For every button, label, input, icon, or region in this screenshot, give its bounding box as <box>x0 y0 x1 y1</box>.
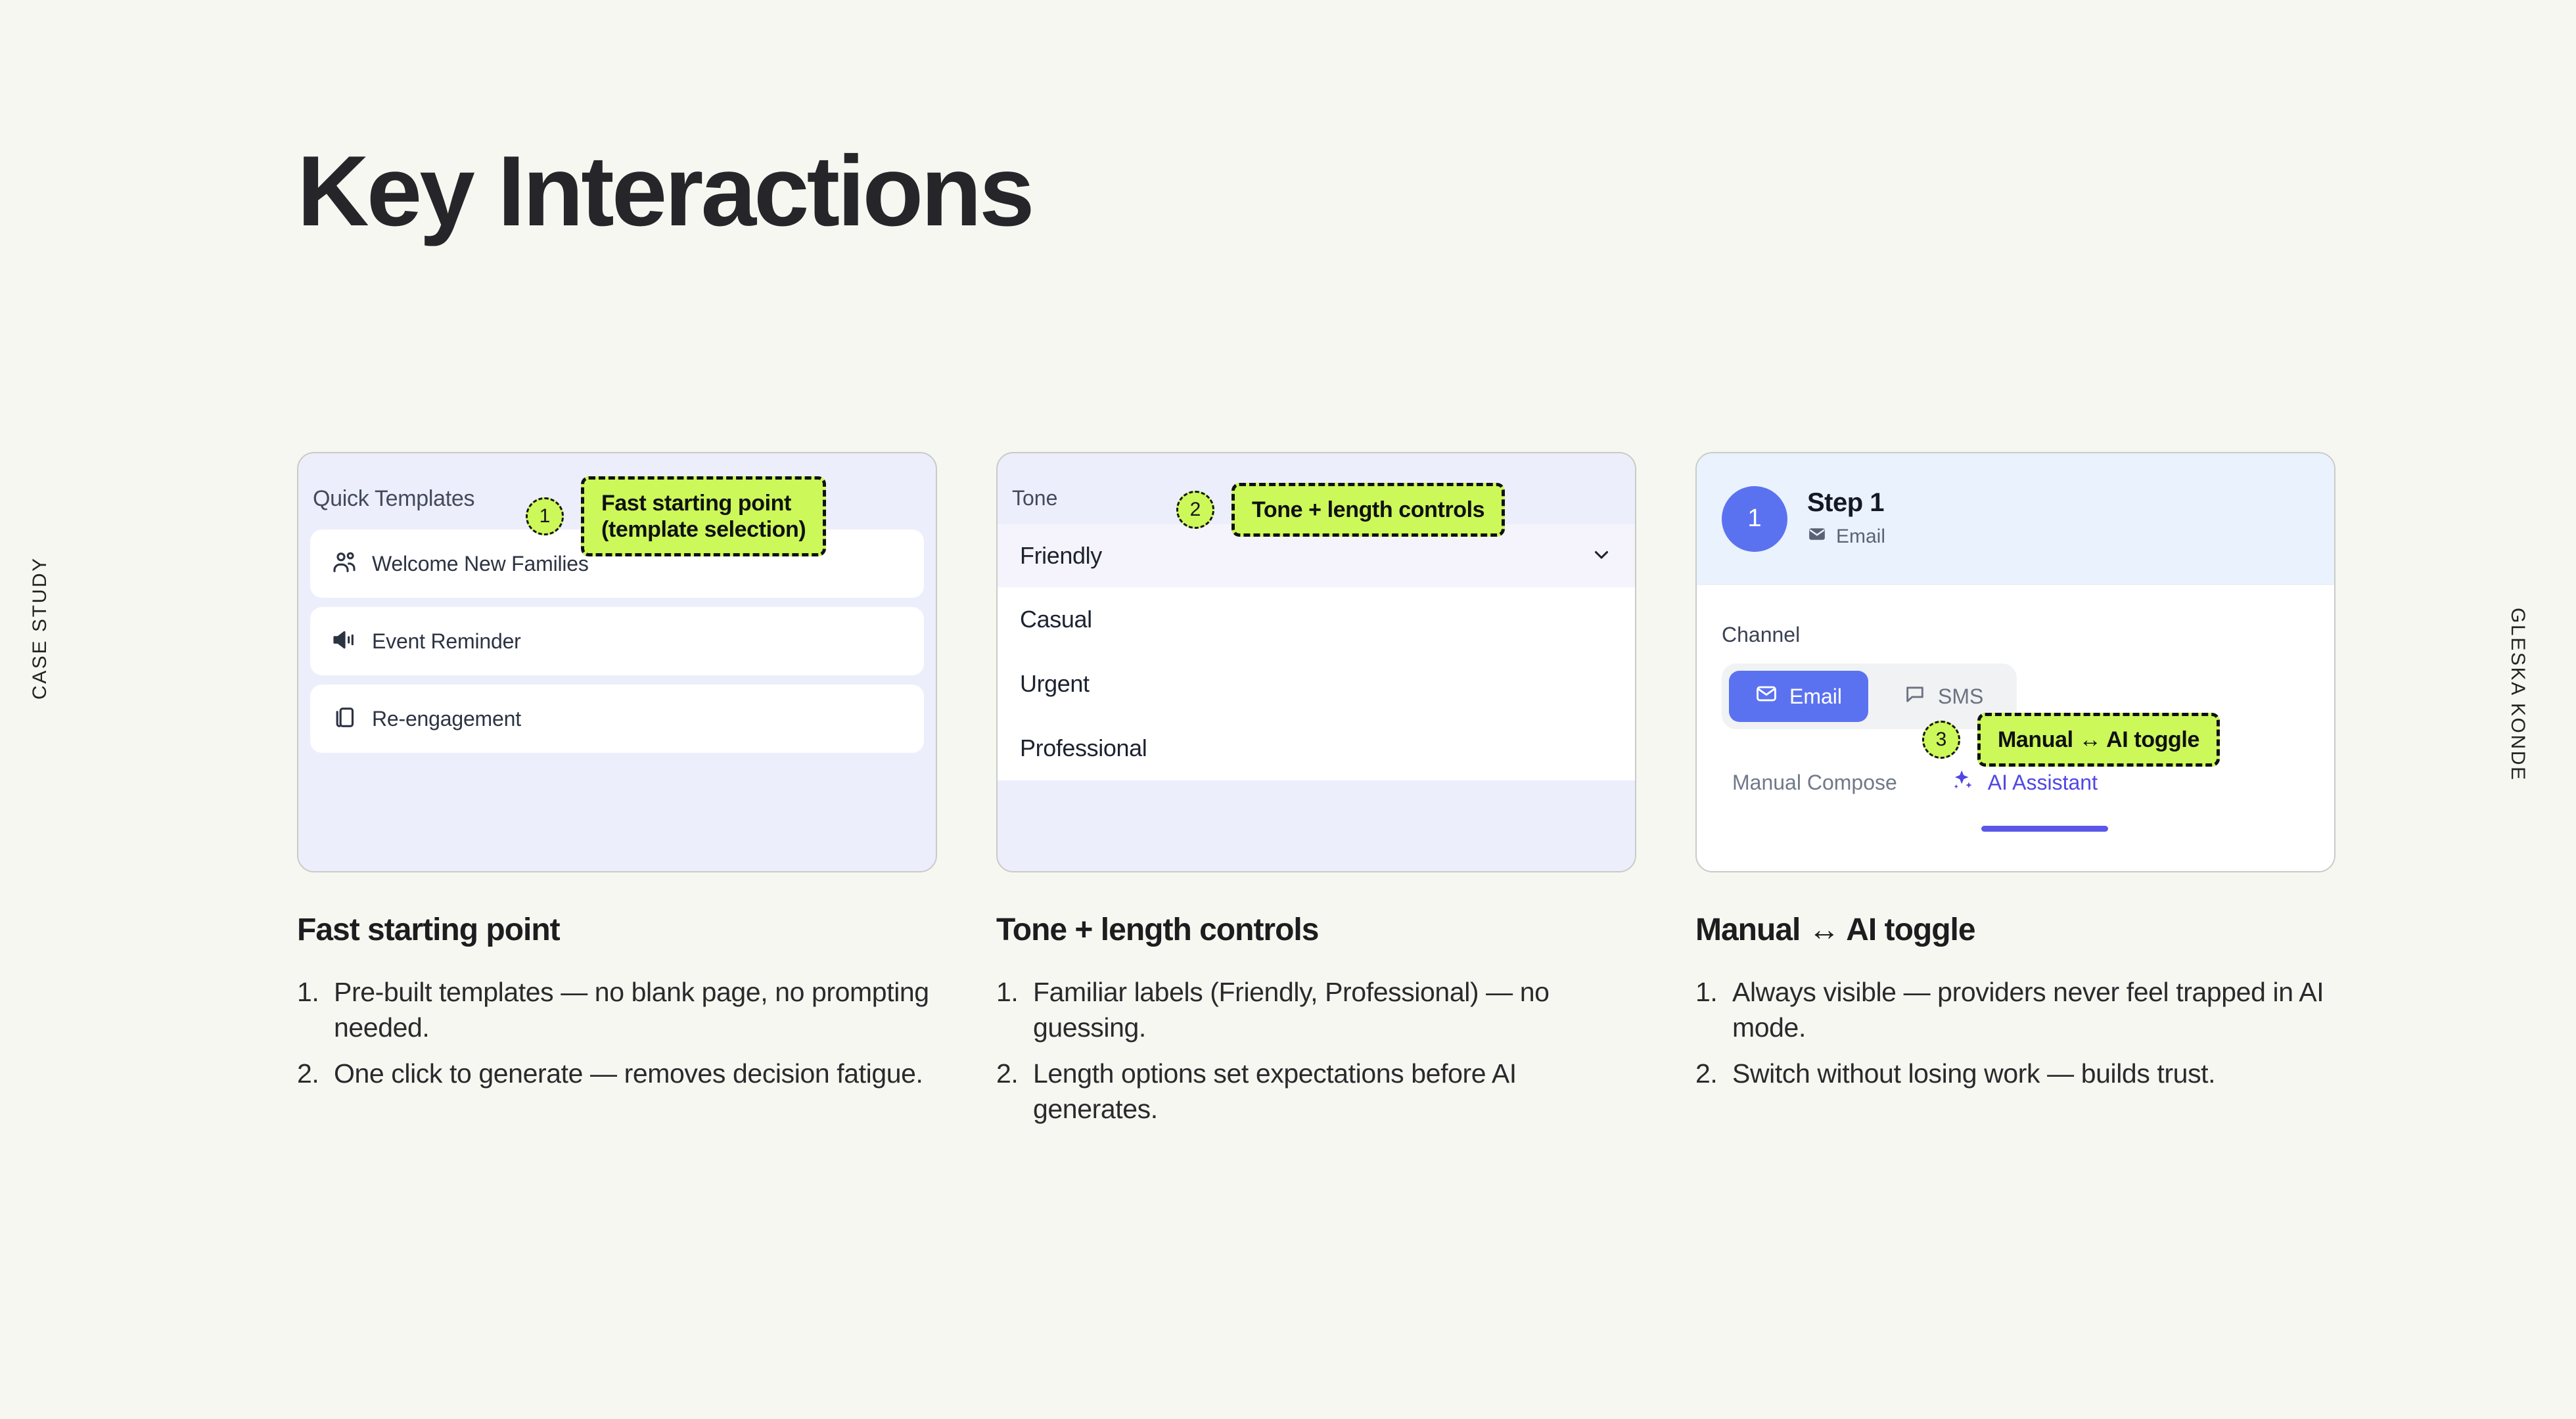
compose-mode-tabs: Manual Compose AI Assistant <box>1732 767 2098 812</box>
caption-block: Fast starting point 1. Pre-built templat… <box>297 912 937 1091</box>
option-label: Urgent <box>1020 670 1090 698</box>
list-item[interactable]: Event Reminder <box>310 607 924 675</box>
step-number-badge: 1 <box>1722 486 1787 552</box>
dropdown-option[interactable]: Professional <box>998 716 1635 780</box>
list-item: 1. Pre-built templates — no blank page, … <box>297 974 937 1045</box>
step-header: 1 Step 1 Email <box>1697 453 2334 585</box>
users-icon <box>331 549 357 579</box>
mock-step-composer: 1 Step 1 Email Channel <box>1695 452 2335 872</box>
template-list: Welcome New Families Event Reminder <box>310 529 924 762</box>
envelope-icon <box>1755 683 1778 710</box>
dropdown-option[interactable]: Urgent <box>998 652 1635 716</box>
step-channel-row: Email <box>1807 524 1885 549</box>
tab-label: AI Assistant <box>1988 771 2098 795</box>
slide-canvas: CASE STUDY GLESKA KONDE Key Interactions… <box>0 0 2576 1419</box>
copy-icon <box>331 704 357 734</box>
list-text: One click to generate — removes decision… <box>334 1056 937 1091</box>
caption-title: Tone + length controls <box>996 912 1636 948</box>
callout-text: Fast starting point (template selection) <box>581 476 826 556</box>
callout-text: Manual ↔ AI toggle <box>1977 713 2220 767</box>
list-text: Switch without losing work — builds trus… <box>1732 1056 2335 1091</box>
callout-badge-number: 1 <box>526 497 564 535</box>
list-item[interactable]: Re-engagement <box>310 685 924 753</box>
callout-2: 2 Tone + length controls <box>1176 483 1505 537</box>
tone-dropdown[interactable]: Friendly Casual Urgent Profession <box>998 524 1635 780</box>
list-item: 1. Familiar labels (Friendly, Profession… <box>996 974 1636 1045</box>
caption-title: Manual ↔ AI toggle <box>1695 912 2335 948</box>
caption-block: Manual ↔ AI toggle 1. Always visible — p… <box>1695 912 2335 1091</box>
list-item: 2. One click to generate — removes decis… <box>297 1056 937 1091</box>
list-number: 2. <box>1695 1056 1732 1091</box>
template-label: Event Reminder <box>372 629 521 654</box>
envelope-icon <box>1807 524 1827 549</box>
callout-1: 1 Fast starting point (template selectio… <box>526 476 826 556</box>
template-label: Re-engagement <box>372 707 521 731</box>
sparkle-icon <box>1950 767 1975 798</box>
column-manual-ai-toggle: 1 Step 1 Email Channel <box>1695 452 2335 1137</box>
caption-list: 1. Always visible — providers never feel… <box>1695 974 2335 1091</box>
channel-label: Channel <box>1722 623 1800 647</box>
list-number: 2. <box>297 1056 334 1091</box>
megaphone-icon <box>331 627 357 656</box>
option-label: Casual <box>1020 606 1092 633</box>
caption-list: 1. Pre-built templates — no blank page, … <box>297 974 937 1091</box>
rail-author: GLESKA KONDE <box>2506 608 2529 782</box>
callout-text: Tone + length controls <box>1231 483 1505 537</box>
segment-label: Email <box>1789 685 1842 709</box>
option-label: Professional <box>1020 734 1147 762</box>
step-channel-label: Email <box>1836 526 1885 548</box>
dropdown-option[interactable]: Casual <box>998 587 1635 652</box>
list-text: Length options set expectations before A… <box>1033 1056 1636 1127</box>
tone-label: Tone <box>1012 486 1057 510</box>
tab-manual-compose[interactable]: Manual Compose <box>1732 771 1897 809</box>
segment-email[interactable]: Email <box>1729 671 1868 722</box>
list-item: 2. Switch without losing work — builds t… <box>1695 1056 2335 1091</box>
page-title: Key Interactions <box>297 141 1032 241</box>
list-text: Always visible — providers never feel tr… <box>1732 974 2335 1045</box>
callout-badge-number: 3 <box>1922 721 1960 759</box>
list-text: Familiar labels (Friendly, Professional)… <box>1033 974 1636 1045</box>
list-item: 1. Always visible — providers never feel… <box>1695 974 2335 1045</box>
chevron-down-icon[interactable] <box>1590 543 1613 569</box>
step-title: Step 1 <box>1807 488 1885 518</box>
caption-list: 1. Familiar labels (Friendly, Profession… <box>996 974 1636 1127</box>
rail-case-study: CASE STUDY <box>29 556 51 700</box>
list-number: 2. <box>996 1056 1033 1127</box>
tab-ai-assistant[interactable]: AI Assistant <box>1950 767 2098 812</box>
segment-label: SMS <box>1938 685 1983 709</box>
list-text: Pre-built templates — no blank page, no … <box>334 974 937 1045</box>
tab-label: Manual Compose <box>1732 771 1897 795</box>
list-number: 1. <box>1695 974 1732 1045</box>
list-number: 1. <box>297 974 334 1045</box>
caption-block: Tone + length controls 1. Familiar label… <box>996 912 1636 1127</box>
list-number: 1. <box>996 974 1033 1045</box>
caption-title: Fast starting point <box>297 912 937 948</box>
column-tone-length-controls: Tone Friendly Casual Urgent <box>996 452 1636 1137</box>
callout-3: 3 Manual ↔ AI toggle <box>1922 713 2220 767</box>
selected-option-label: Friendly <box>1020 542 1102 570</box>
list-item: 2. Length options set expectations befor… <box>996 1056 1636 1127</box>
chat-bubble-icon <box>1904 683 1926 710</box>
callout-badge-number: 2 <box>1176 491 1214 529</box>
quick-templates-label: Quick Templates <box>313 486 474 512</box>
